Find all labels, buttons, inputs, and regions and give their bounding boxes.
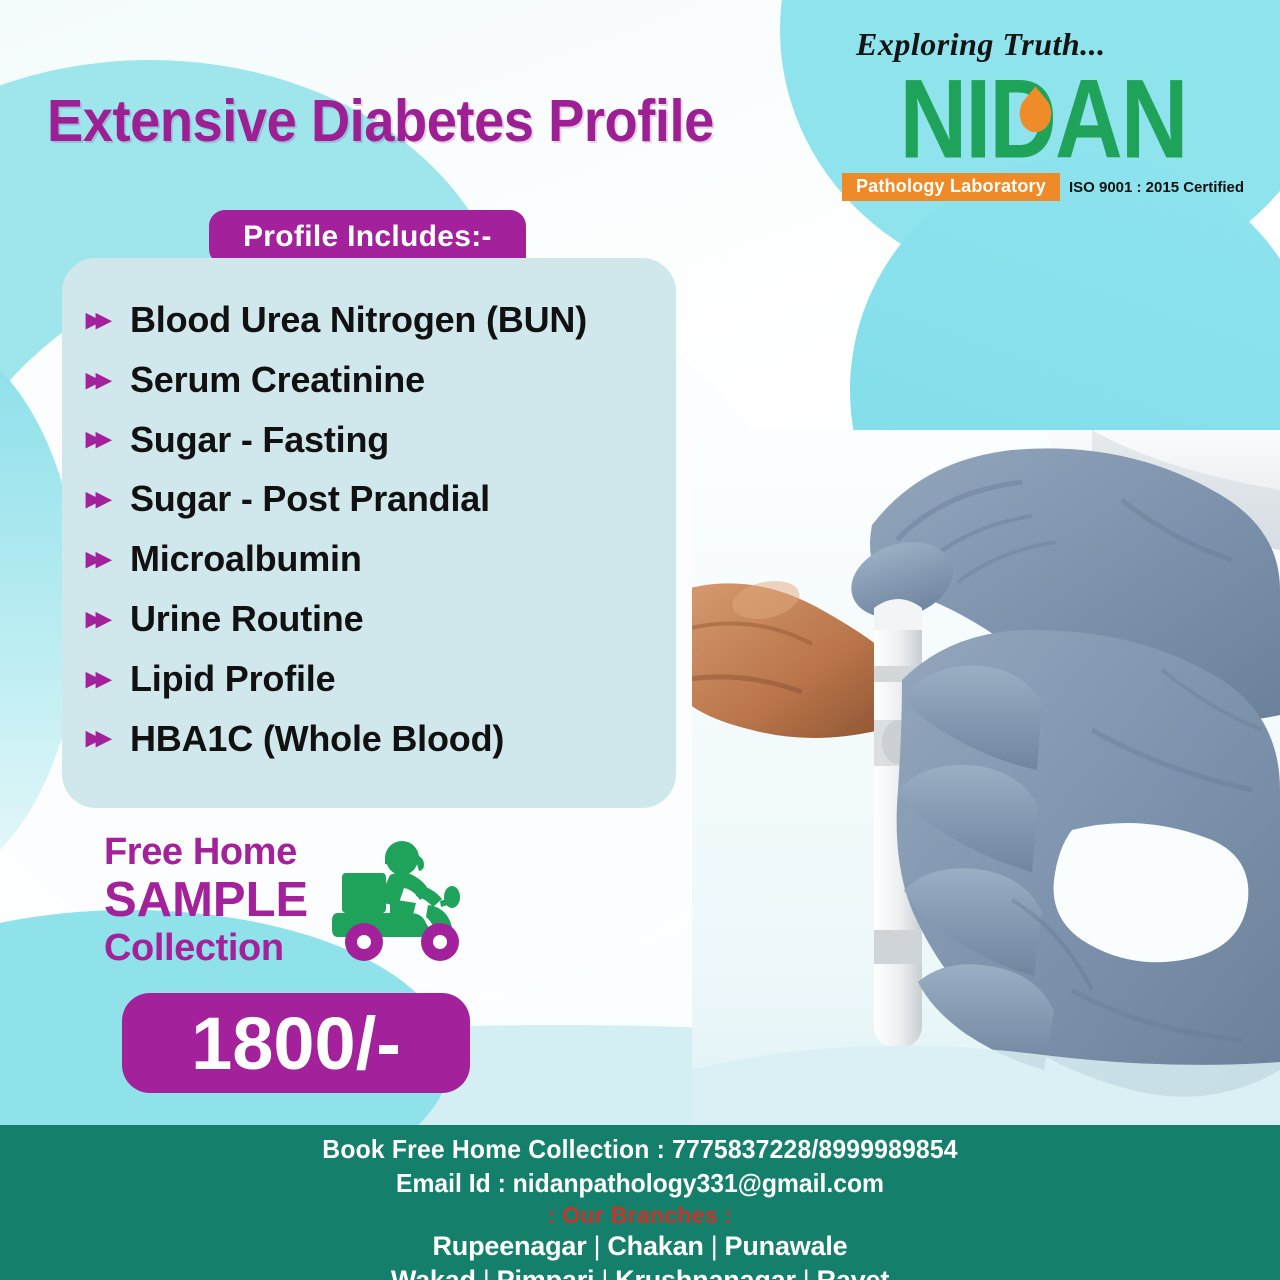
double-chevron-icon: ▸▸ <box>86 305 130 335</box>
email-line: Email Id : nidanpathology331@gmail.com <box>32 1168 1248 1199</box>
footer-contact-bar: Book Free Home Collection : 7775837228/8… <box>0 1125 1280 1280</box>
branches-row-2: Wakad|Pimpari|Krushnanagar|Ravet <box>0 1264 1280 1280</box>
list-item-label: Microalbumin <box>130 531 362 587</box>
list-item-label: Blood Urea Nitrogen (BUN) <box>130 292 587 348</box>
list-item-label: Sugar - Post Prandial <box>130 471 490 527</box>
list-item-label: HBA1C (Whole Blood) <box>130 711 504 767</box>
booking-phones: 7775837228/8999989854 <box>672 1134 958 1164</box>
list-item: ▸▸ Lipid Profile <box>62 651 676 707</box>
promo-line-2: SAMPLE <box>104 876 308 925</box>
double-chevron-icon: ▸▸ <box>86 723 130 753</box>
double-chevron-icon: ▸▸ <box>86 365 130 395</box>
branch-name: Ravet <box>817 1265 890 1280</box>
free-home-collection-block: Free Home SAMPLE Collection <box>104 833 468 967</box>
email-address: nidanpathology331@gmail.com <box>513 1168 884 1198</box>
brand-logo: Exploring Truth... NIDAN Pathology Labor… <box>838 26 1248 201</box>
delivery-scooter-icon <box>328 835 468 965</box>
branch-separator: | <box>704 1230 725 1263</box>
branch-name: Rupeenagar <box>433 1231 587 1261</box>
branch-separator: | <box>476 1264 497 1280</box>
page-title: Extensive Diabetes Profile <box>47 92 714 151</box>
branches-row-1: Rupeenagar|Chakan|Punawale <box>0 1230 1280 1263</box>
list-item-label: Urine Routine <box>130 591 363 647</box>
profile-tests-card: ▸▸ Blood Urea Nitrogen (BUN) ▸▸ Serum Cr… <box>62 258 676 808</box>
double-chevron-icon: ▸▸ <box>86 664 130 694</box>
double-chevron-icon: ▸▸ <box>86 544 130 574</box>
branch-name: Wakad <box>391 1265 476 1280</box>
double-chevron-icon: ▸▸ <box>86 424 130 454</box>
poster-canvas: Extensive Diabetes Profile Exploring Tru… <box>0 0 1280 1280</box>
double-chevron-icon: ▸▸ <box>86 604 130 634</box>
profile-includes-badge: Profile Includes:- <box>209 210 526 265</box>
list-item-label: Sugar - Fasting <box>130 412 389 468</box>
booking-line: Book Free Home Collection : 7775837228/8… <box>32 1134 1248 1165</box>
list-item: ▸▸ Blood Urea Nitrogen (BUN) <box>62 292 676 348</box>
list-item: ▸▸ Urine Routine <box>62 591 676 647</box>
list-item: ▸▸ Microalbumin <box>62 531 676 587</box>
branch-name: Punawale <box>725 1231 848 1261</box>
email-label: Email Id : <box>396 1168 513 1198</box>
booking-label: Book Free Home Collection : <box>322 1134 672 1164</box>
price-badge: 1800/- <box>122 993 470 1093</box>
branch-name: Krushnanagar <box>615 1265 796 1280</box>
free-home-collection-text: Free Home SAMPLE Collection <box>104 833 308 967</box>
branches-heading: : Our Branches : <box>0 1202 1280 1229</box>
branch-separator: | <box>796 1264 817 1280</box>
glucose-test-photo <box>692 430 1280 1130</box>
promo-line-3: Collection <box>104 929 308 967</box>
list-item-label: Serum Creatinine <box>130 352 425 408</box>
branch-separator: | <box>594 1264 615 1280</box>
branch-name: Chakan <box>607 1231 703 1261</box>
glucose-test-illustration <box>692 430 1280 1130</box>
promo-line-1: Free Home <box>104 833 308 871</box>
list-item: ▸▸ Sugar - Fasting <box>62 412 676 468</box>
logo-wordmark: NIDAN <box>834 67 1252 172</box>
list-item: ▸▸ HBA1C (Whole Blood) <box>62 711 676 767</box>
branch-separator: | <box>587 1230 608 1263</box>
list-item: ▸▸ Serum Creatinine <box>62 352 676 408</box>
double-chevron-icon: ▸▸ <box>86 484 130 514</box>
list-item: ▸▸ Sugar - Post Prandial <box>62 471 676 527</box>
branch-name: Pimpari <box>497 1265 595 1280</box>
list-item-label: Lipid Profile <box>130 651 335 707</box>
